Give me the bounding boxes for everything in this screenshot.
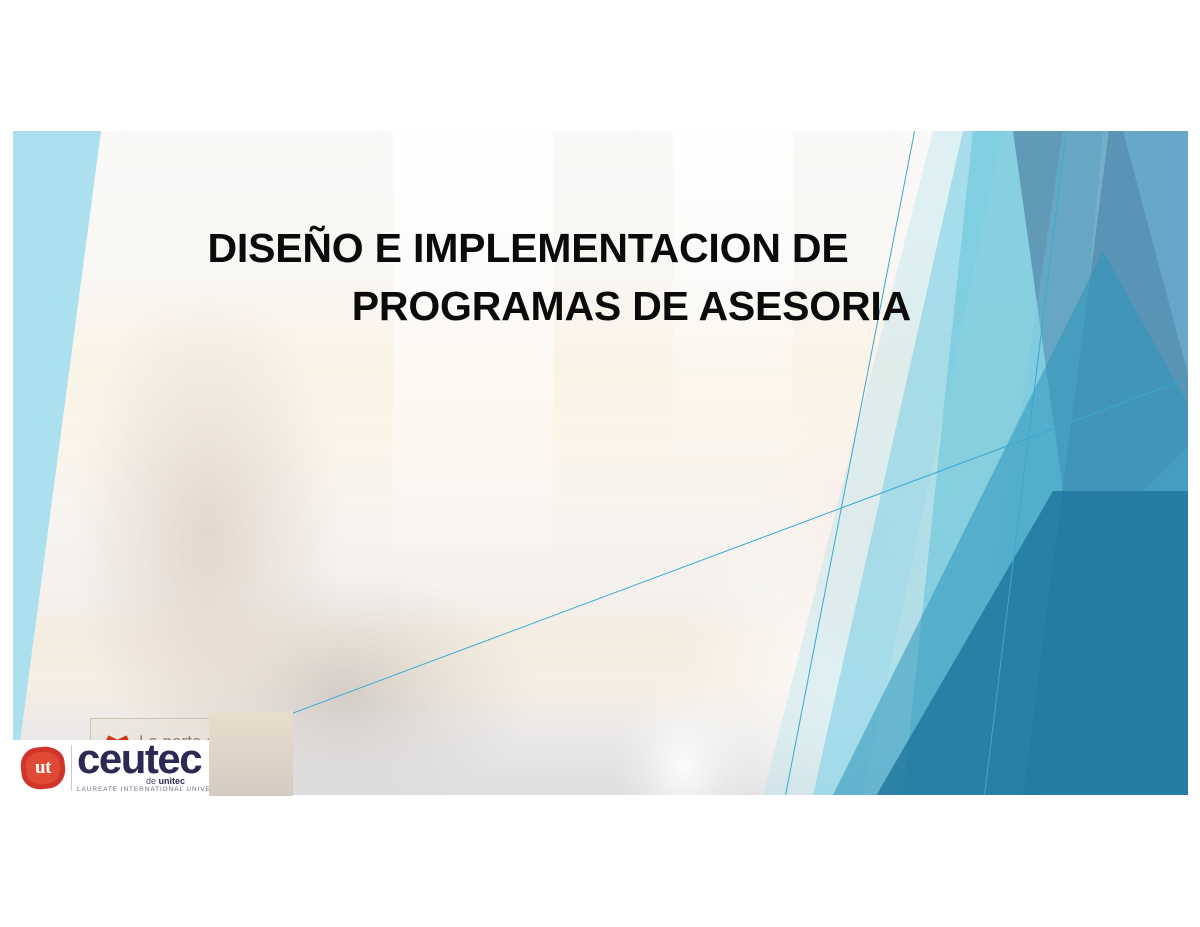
- slide-title-line-1: DISEÑO E IMPLEMENTACION DE: [133, 219, 923, 277]
- presentation-slide: DISEÑO E IMPLEMENTACION DE PROGRAMAS DE …: [13, 131, 1188, 795]
- ceutec-subtitle-prefix: de: [146, 776, 159, 786]
- footer-logo-zone: La parte de ut ceutec de unitec LAUREATE…: [13, 712, 293, 807]
- laureate-tagline: LAUREATE INTERNATIONAL UNIVERSITIES: [77, 786, 211, 793]
- unitec-ut-mark-icon: ut: [19, 744, 67, 792]
- logo-overlap-mask: [209, 712, 293, 796]
- slide-title-line-2: PROGRAMAS DE ASESORIA: [133, 277, 923, 335]
- ceutec-subtitle-brand: unitec: [159, 776, 186, 786]
- slide-title: DISEÑO E IMPLEMENTACION DE PROGRAMAS DE …: [133, 219, 923, 335]
- ut-mark-letters: ut: [19, 744, 67, 792]
- ceutec-wordmark: ceutec: [77, 740, 201, 780]
- ceutec-logo: ut ceutec de unitec LAUREATE INTERNATION…: [13, 740, 211, 796]
- ceutec-subtitle: de unitec: [146, 776, 185, 786]
- logo-divider: [71, 745, 72, 791]
